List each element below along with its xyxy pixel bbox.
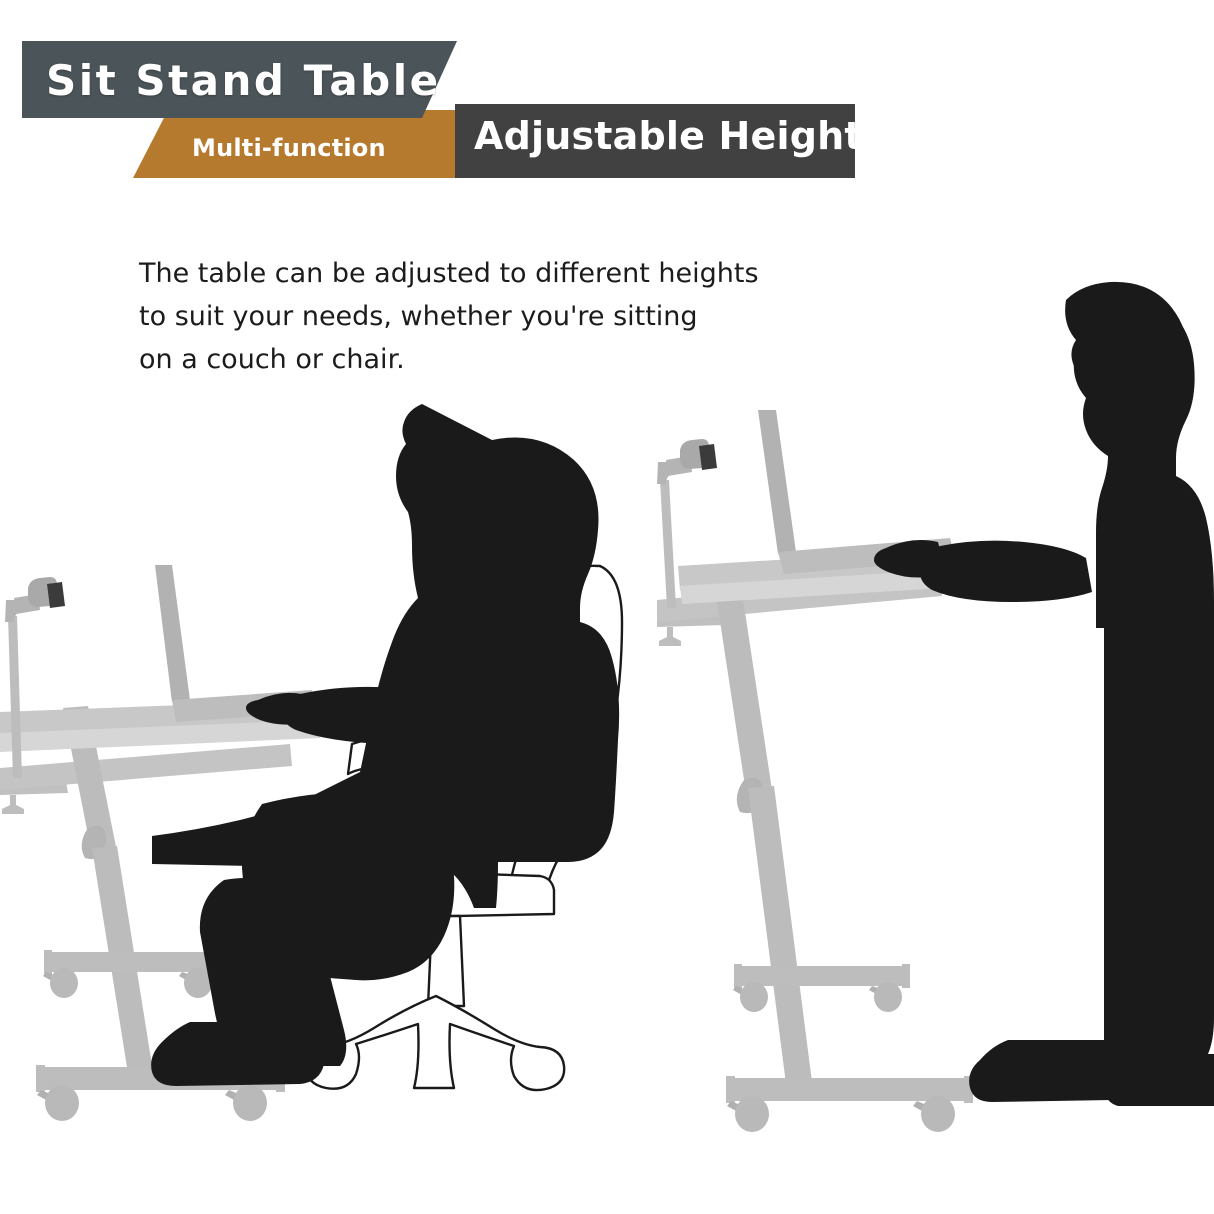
illustration-canvas (0, 0, 1214, 1214)
desk-base-cap-left-right (726, 1076, 735, 1103)
desk-mid-crossbar-left (48, 952, 216, 972)
desk-base-cap-left (36, 1065, 45, 1092)
standing-person-arm (920, 541, 1092, 602)
clamp-screw-right (659, 627, 681, 646)
desk-mid-crossbar-right (738, 966, 906, 986)
desk-upper-crossbar-left (0, 744, 292, 790)
person-standing-silhouette (874, 282, 1214, 1106)
sitting-scene (0, 404, 622, 1121)
phone-device-left (47, 582, 65, 608)
phone-holder-post-left (8, 616, 22, 778)
caster-base-right (225, 1085, 267, 1121)
desk-mid-crossbar-cap-left (44, 950, 52, 974)
laptop-screen-left (155, 565, 190, 702)
standing-person-head (1065, 282, 1189, 420)
caster-base-right-right (913, 1096, 955, 1132)
caster-mid-right-right (869, 982, 902, 1012)
product-infographic: Sit Stand Table Multi-function Adjustabl… (0, 0, 1214, 1214)
sitting-person-foot (151, 1022, 325, 1086)
caster-mid-right (179, 968, 212, 998)
laptop-screen-right (758, 410, 796, 554)
person-sitting-silhouette (151, 404, 619, 1086)
desk-mid-cap-right-right (902, 964, 910, 988)
standing-person-foot (969, 1040, 1137, 1102)
clamp-screw-left (2, 795, 24, 814)
desk-mid-cap-left-right (734, 964, 742, 988)
desk-leg-lower-right (748, 786, 812, 1084)
desk-frame-right (657, 566, 973, 1132)
phone-device-right (699, 444, 717, 470)
standing-scene (657, 282, 1214, 1132)
phone-holder-post-right (660, 480, 676, 608)
